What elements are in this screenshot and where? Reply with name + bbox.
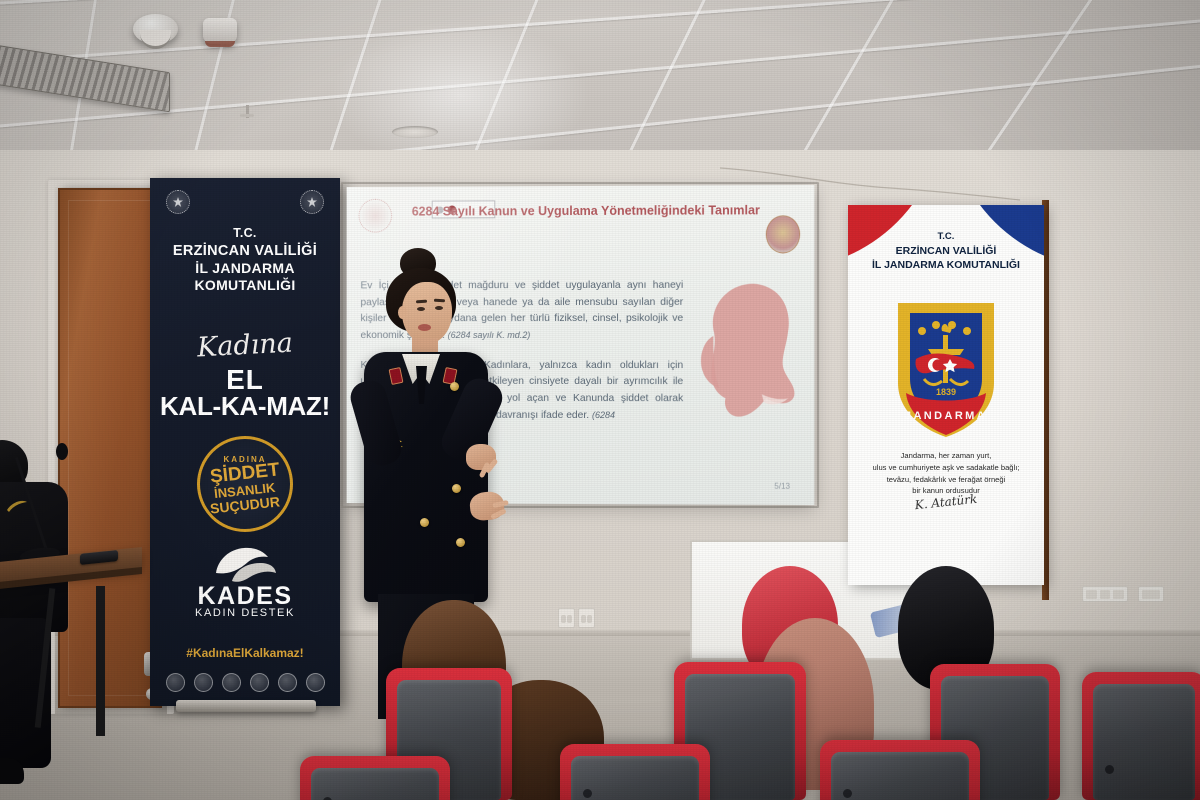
photo-scene: T.C. ERZİNCAN VALİLİĞİ İL JANDARMA KOMUT… <box>0 0 1200 800</box>
seat-pad <box>311 768 439 800</box>
seat-pad <box>1093 684 1195 800</box>
auditorium-seat[interactable] <box>820 740 980 800</box>
seat-pad <box>571 756 699 800</box>
audience-seating <box>0 0 1200 800</box>
seat-pad <box>831 752 969 800</box>
auditorium-seat[interactable] <box>1082 672 1200 800</box>
auditorium-seat[interactable] <box>560 744 710 800</box>
auditorium-seat[interactable] <box>300 756 450 800</box>
